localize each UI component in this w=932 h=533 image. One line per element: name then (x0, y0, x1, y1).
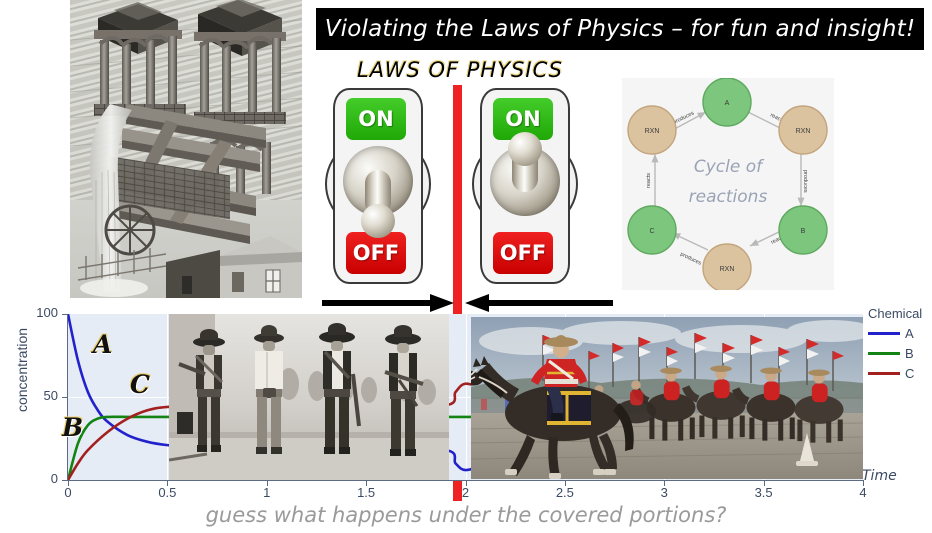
y-axis-label: concentration (14, 300, 30, 440)
edge-label: produces (802, 170, 808, 193)
x-tick-label: 1 (252, 485, 282, 500)
laws-of-physics-heading: LAWS OF PHYSICS (330, 58, 590, 82)
legend-label-c: C (905, 366, 914, 381)
switch-off-plate: OFF (493, 232, 553, 274)
svg-text:RXN: RXN (720, 266, 735, 273)
edge-label: reacts (646, 173, 652, 188)
edge-label: produces (679, 251, 702, 266)
switch-knob[interactable] (361, 204, 395, 238)
legend-label-b: B (905, 346, 914, 361)
switch-on-plate: ON (346, 98, 406, 140)
curve-annotation-a: A (93, 330, 112, 359)
x-tick-label: 1.5 (351, 485, 381, 500)
svg-text:RXN: RXN (645, 128, 660, 135)
title-banner: Violating the Laws of Physics – for fun … (316, 8, 924, 50)
switch-on-label: ON (505, 107, 540, 131)
switch-knob[interactable] (508, 132, 542, 166)
x-tick-label: 0.5 (152, 485, 182, 500)
laws-of-physics-switch-right[interactable]: ON OFF (480, 88, 570, 284)
legend-swatch-a (868, 332, 900, 335)
curve-annotation-c: C (130, 370, 150, 399)
legend-item-a: A (868, 326, 932, 341)
curve-annotation-b: B (62, 413, 83, 442)
x-tick-label: 3 (649, 485, 679, 500)
page-title: Violating the Laws of Physics – for fun … (325, 16, 916, 42)
legend-item-c: C (868, 366, 932, 381)
switch-off-label: OFF (500, 241, 547, 265)
svg-text:A: A (725, 100, 730, 107)
x-tick-label: 2 (451, 485, 481, 500)
rcmp-musical-ride-photo (471, 317, 863, 479)
x-tick-label: 4 (848, 485, 878, 500)
x-axis-label: Time (862, 468, 897, 484)
cycle-center-label-line2: reactions (689, 187, 768, 207)
x-tick-label: 2.5 (550, 485, 580, 500)
laws-of-physics-switch-left[interactable]: ON OFF (333, 88, 423, 284)
escher-waterfall-image (70, 0, 302, 298)
svg-text:C: C (649, 228, 654, 235)
switch-off-plate: OFF (346, 232, 406, 274)
bottom-caption: guess what happens under the covered por… (0, 503, 932, 527)
switch-on-label: ON (358, 107, 393, 131)
switch-off-label: OFF (353, 241, 400, 265)
y-tick-mark (62, 480, 67, 481)
legend-swatch-c (868, 372, 900, 375)
y-tick-mark (62, 314, 67, 315)
x-tick-label: 0 (53, 485, 83, 500)
y-tick-mark (62, 397, 67, 398)
legend-label-a: A (905, 326, 914, 341)
x-tick-label: 3.5 (749, 485, 779, 500)
y-tick-label: 0 (24, 471, 58, 486)
legend-swatch-b (868, 352, 900, 355)
chart-legend: Chemical A B C (868, 306, 932, 386)
legend-title: Chemical (868, 306, 932, 321)
cycle-of-reactions-diagram: reacts produces reacts produces reacts p… (622, 78, 834, 290)
svg-text:RXN: RXN (796, 128, 811, 135)
cycle-center-label-line1: Cycle of (694, 157, 765, 177)
svg-text:B: B (801, 228, 806, 235)
y-axis-line (67, 314, 68, 480)
western-gunmen-photo (169, 314, 449, 480)
legend-item-b: B (868, 346, 932, 361)
